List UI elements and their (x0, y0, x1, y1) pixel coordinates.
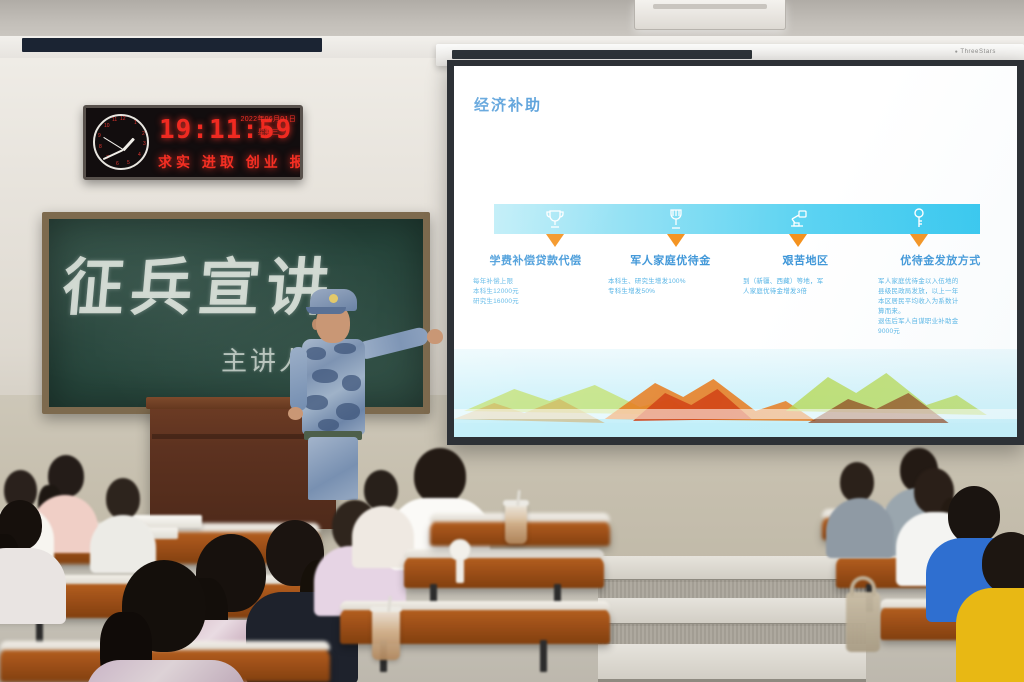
aisle-steps (598, 556, 866, 682)
speaker-left-hand (288, 407, 303, 420)
presentation-slide: 经济补助 (454, 66, 1017, 437)
column-line: 本科生、研究生增发100% (608, 277, 733, 287)
slide-icon-bar (494, 204, 980, 234)
column-heading: 优待金发放方式 (878, 252, 1003, 268)
arrow-marker (616, 234, 738, 250)
clock-numeral: 8 (99, 145, 102, 150)
handheld-fan (449, 539, 471, 583)
column-line: 研究生16000元 (473, 297, 598, 307)
column-line: 9000元 (878, 327, 1003, 337)
speaker-legs (308, 437, 358, 500)
column-line: 本区居民平均收入为系数计 (878, 297, 1003, 307)
clock-numeral: 12 (120, 117, 126, 122)
speaker-pointing-hand (427, 329, 443, 344)
clock-numeral: 11 (112, 118, 117, 123)
clock-numeral: 4 (138, 153, 141, 158)
step (598, 556, 866, 582)
microscope-icon (737, 204, 859, 234)
student (90, 478, 156, 570)
step (598, 598, 866, 626)
column-heading: 学费补偿贷款代偿 (473, 252, 598, 268)
milk-tea-cup (372, 610, 400, 660)
student-torso (352, 506, 414, 568)
clock-numeral: 2 (142, 132, 145, 137)
column-heading: 艰苦地区 (743, 252, 868, 268)
tote-bag (846, 592, 880, 652)
analog-clock: 12 1 2 3 4 5 6 7 8 9 10 11 (86, 108, 152, 177)
key-icon (859, 204, 981, 234)
lecture-hall-photo: 12 1 2 3 4 5 6 7 8 9 10 11 19:11:59 2022… (0, 0, 1024, 682)
clock-numeral: 9 (98, 134, 101, 139)
slide-arrow-row (494, 234, 980, 250)
student-head (414, 448, 466, 504)
cap-badge-icon (329, 294, 338, 303)
slide-columns: 学费补偿贷款代偿 每年补偿上限 本科生12000元 研究生16000元 军人家庭… (468, 252, 1008, 337)
clock-numeral: 1 (134, 121, 137, 126)
column-line: 军人家庭优待金以入伍地的 (878, 277, 1003, 287)
arrow-marker (859, 234, 981, 250)
student-head (364, 470, 398, 510)
projection-screen-frame: 经济补助 (447, 60, 1024, 445)
clock-numeral: 3 (143, 142, 146, 147)
clock-second-hand (103, 137, 123, 150)
column-body: 本科生、研究生增发100% 专科生增发50% (608, 277, 733, 297)
column-line: 本科生12000元 (473, 287, 598, 297)
column-line: 县级民政局发放，以上一年 (878, 287, 1003, 297)
bag-strap (850, 576, 876, 596)
ceiling-light-fixture (634, 0, 786, 30)
column-line: 退伍后军人自谋职业补助金 (878, 317, 1003, 327)
column-body: 到（新疆、西藏）等地，军 人家庭优待金增发3倍 (743, 277, 868, 297)
clock-numeral: 10 (104, 124, 110, 129)
projector-brand-label: ThreeStars (955, 49, 996, 55)
student (96, 560, 236, 682)
student-head (106, 478, 140, 519)
step-riser (598, 624, 866, 644)
step (598, 644, 866, 682)
wall-navy-band (22, 38, 322, 52)
fan-handle (456, 559, 464, 583)
slide-column: 优待金发放方式 军人家庭优待金以入伍地的 县级民政局发放，以上一年 本区居民平均… (873, 252, 1008, 337)
slide-column: 艰苦地区 到（新疆、西藏）等地，军 人家庭优待金增发3倍 (738, 252, 873, 337)
desk-row (404, 556, 604, 588)
student-torso (86, 660, 246, 682)
student-head (840, 462, 874, 502)
slide-mountain-graphic (454, 349, 1017, 437)
cup-lid (370, 606, 402, 612)
student-torso (956, 588, 1024, 682)
fan-head (449, 539, 471, 561)
student (0, 500, 68, 620)
milk-tea-cup (505, 504, 527, 544)
speaker-soldier (286, 285, 394, 500)
slide-column: 军人家庭优待金 本科生、研究生增发100% 专科生增发50% (603, 252, 738, 337)
arrow-marker (737, 234, 859, 250)
column-line: 人家庭优待金增发3倍 (743, 287, 868, 297)
clock-dial: 12 1 2 3 4 5 6 7 8 9 10 11 (93, 114, 149, 170)
housing-slot (452, 50, 752, 59)
student-torso (0, 548, 66, 624)
led-text-panel: 19:11:59 2022年06月01日 星期三 求实 进取 创业 报国 (152, 108, 300, 177)
cap-brim (306, 307, 346, 314)
column-line: 到（新疆、西藏）等地，军 (743, 277, 868, 287)
column-line: 专科生增发50% (608, 287, 733, 297)
trophy-cup-icon (494, 204, 616, 234)
led-motto-text: 求实 进取 创业 报国 (158, 152, 296, 172)
column-body: 每年补偿上限 本科生12000元 研究生16000元 (473, 277, 598, 307)
medal-icon (616, 204, 738, 234)
column-heading: 军人家庭优待金 (608, 252, 733, 268)
arrow-marker (494, 234, 616, 250)
step-riser (598, 580, 866, 598)
clock-hour-hand (122, 138, 135, 152)
column-line: 每年补偿上限 (473, 277, 598, 287)
camouflage-pattern (302, 339, 365, 435)
led-date-display: 2022年06月01日 星期三 (241, 114, 296, 137)
clock-numeral: 5 (127, 161, 130, 166)
slide-column: 学费补偿贷款代偿 每年补偿上限 本科生12000元 研究生16000元 (468, 252, 603, 337)
led-clock-board: 12 1 2 3 4 5 6 7 8 9 10 11 19:11:59 2022… (83, 105, 303, 180)
led-weekday-text: 星期三 (241, 127, 296, 137)
slide-title: 经济补助 (474, 94, 542, 115)
student (828, 462, 890, 554)
student-torso (826, 498, 894, 558)
column-line: 算而来。 (878, 307, 1003, 317)
student-head (982, 532, 1024, 594)
student (968, 532, 1024, 682)
speaker-torso-uniform (302, 339, 365, 435)
clock-numeral: 6 (116, 162, 119, 167)
column-body: 军人家庭优待金以入伍地的 县级民政局发放，以上一年 本区居民平均收入为系数计 算… (878, 277, 1003, 337)
led-date-text: 2022年06月01日 (241, 114, 296, 124)
projection-screen-surface: 经济补助 (454, 66, 1017, 437)
speaker-left-arm (290, 347, 307, 411)
